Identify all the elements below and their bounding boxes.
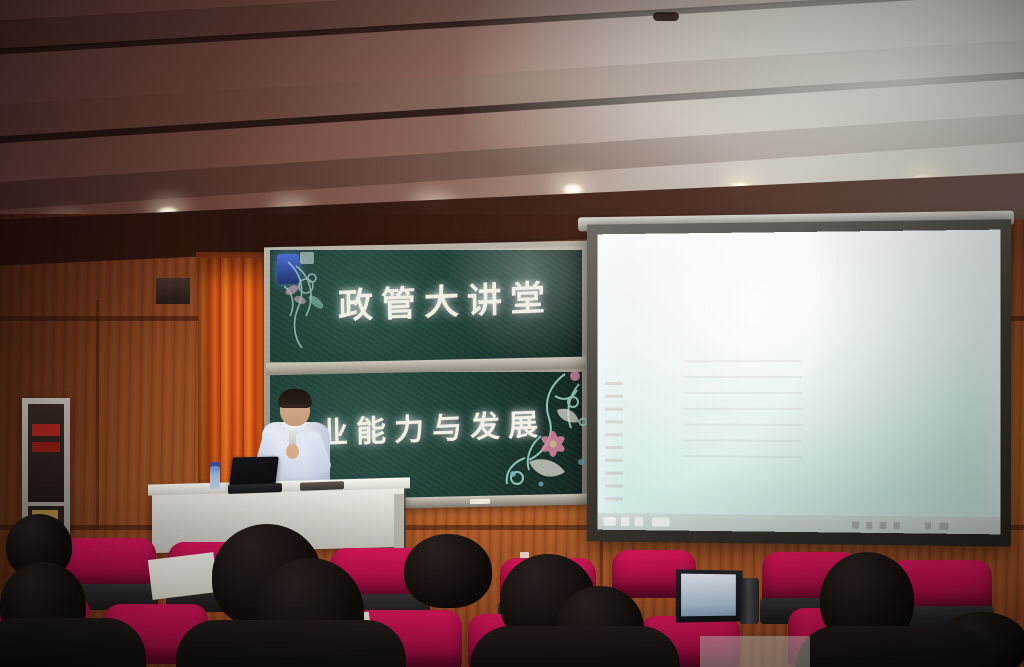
audience-desk [700, 636, 810, 667]
presenter-laptop-base[interactable] [228, 483, 282, 494]
audience-shoulders [470, 626, 680, 667]
cabinet-red-label [32, 442, 60, 452]
handout-sheet[interactable] [148, 552, 218, 600]
board-mounted-label [300, 252, 314, 264]
presenter-hand [286, 444, 299, 459]
audience-head [404, 534, 492, 608]
screen-faint-content [605, 382, 622, 510]
blackboard-title-text: 政管大讲堂 [338, 270, 554, 330]
lecture-hall-photo: 政管大讲堂 业能力与发展 [0, 0, 1024, 667]
podium-object [300, 481, 344, 491]
audience-shoulders [796, 626, 996, 667]
wall-panel-seam [96, 300, 99, 530]
cabinet-red-label [32, 424, 60, 436]
glasses-icon [282, 405, 308, 412]
water-bottle[interactable] [210, 466, 220, 489]
board-mounted-device [277, 254, 299, 284]
screen-faint-content [683, 360, 802, 470]
projection-screen[interactable] [598, 230, 1001, 535]
audience-area [0, 500, 1024, 667]
wall-speaker [156, 278, 190, 304]
ceiling-vent-icon [653, 12, 679, 21]
audience-laptop-screen[interactable] [681, 574, 736, 617]
audience-shoulders [176, 620, 406, 667]
thermos-flask[interactable] [740, 578, 759, 624]
cabinet-window [28, 404, 64, 502]
blackboard-subtitle-text: 业能力与发展 [318, 399, 547, 452]
audience-shoulders [0, 618, 146, 667]
